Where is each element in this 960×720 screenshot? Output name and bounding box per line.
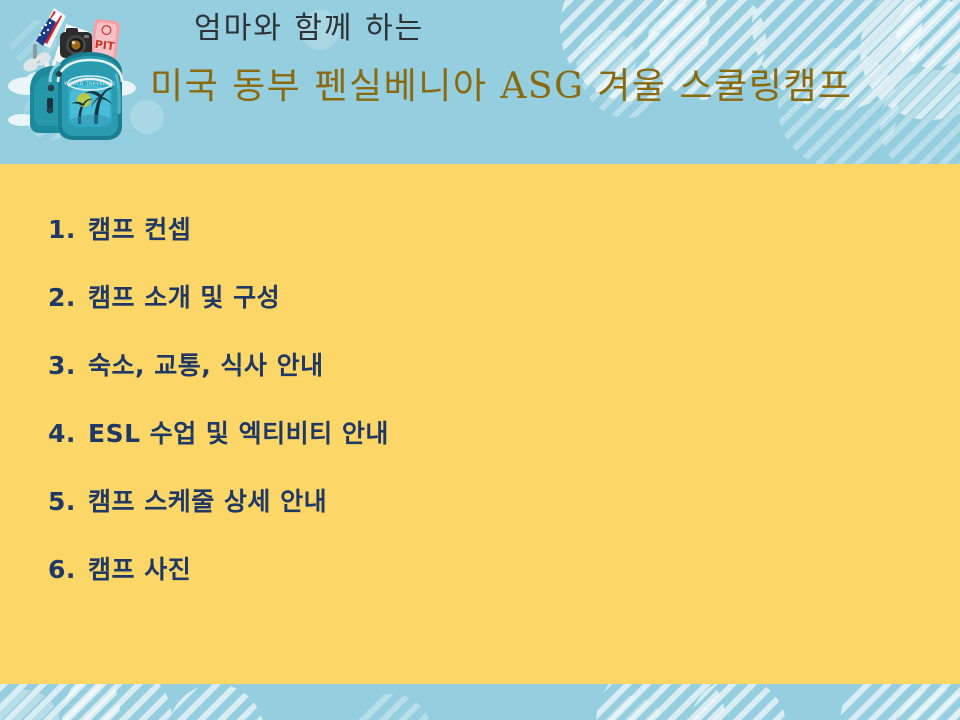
presentation-slide: PIT <box>0 0 960 720</box>
list-item-number: 3. <box>48 351 88 380</box>
list-item-label: 캠프 사진 <box>88 550 191 586</box>
svg-text:PIT: PIT <box>94 38 116 53</box>
striped-circle-icon <box>840 684 960 720</box>
striped-circle-icon <box>896 688 960 720</box>
striped-circle-icon <box>62 684 172 720</box>
striped-circle-icon <box>168 684 264 720</box>
slide-footer <box>0 684 960 720</box>
list-item[interactable]: 4. ESL 수업 및 엑티비티 안내 <box>48 414 868 482</box>
list-item-label: 숙소, 교통, 식사 안내 <box>88 346 324 382</box>
slide-header: PIT <box>0 0 960 164</box>
striped-circle-icon <box>0 690 60 720</box>
header-text-block: 엄마와 함께 하는 미국 동부 펜실베니아 ASG 겨울 스쿨링캠프 <box>150 10 950 110</box>
list-item-label: 캠프 스케줄 상세 안내 <box>88 482 327 518</box>
slide-title: 미국 동부 펜실베니아 ASG 겨울 스쿨링캠프 <box>150 64 950 111</box>
striped-circle-icon <box>596 696 666 720</box>
list-item[interactable]: 3. 숙소, 교통, 식사 안내 <box>48 346 868 414</box>
list-item-label: 캠프 컨셉 <box>88 210 191 246</box>
striped-circle-icon <box>352 694 432 720</box>
list-item-number: 6. <box>48 555 88 584</box>
slide-content-panel: 1. 캠프 컨셉 2. 캠프 소개 및 구성 3. 숙소, 교통, 식사 안내 … <box>0 164 960 684</box>
list-item-number: 5. <box>48 487 88 516</box>
list-item[interactable]: 6. 캠프 사진 <box>48 550 868 618</box>
list-item-label: ESL 수업 및 엑티비티 안내 <box>88 414 389 450</box>
list-item[interactable]: 2. 캠프 소개 및 구성 <box>48 278 868 346</box>
list-item-number: 1. <box>48 215 88 244</box>
svg-text:WORLD TRAVELING: WORLD TRAVELING <box>64 81 116 87</box>
backpack-illustration: PIT <box>6 2 142 144</box>
list-item-label: 캠프 소개 및 구성 <box>88 278 280 314</box>
striped-circle-icon <box>0 684 120 720</box>
list-item-number: 4. <box>48 419 88 448</box>
striped-circle-icon <box>596 684 726 720</box>
list-item[interactable]: 1. 캠프 컨셉 <box>48 210 868 278</box>
slide-subtitle: 엄마와 함께 하는 <box>150 10 950 48</box>
list-item[interactable]: 5. 캠프 스케줄 상세 안내 <box>48 482 868 550</box>
agenda-list: 1. 캠프 컨셉 2. 캠프 소개 및 구성 3. 숙소, 교통, 식사 안내 … <box>48 210 868 618</box>
striped-circle-icon <box>690 684 786 720</box>
footer-decoration-pattern <box>0 684 960 720</box>
list-item-number: 2. <box>48 283 88 312</box>
